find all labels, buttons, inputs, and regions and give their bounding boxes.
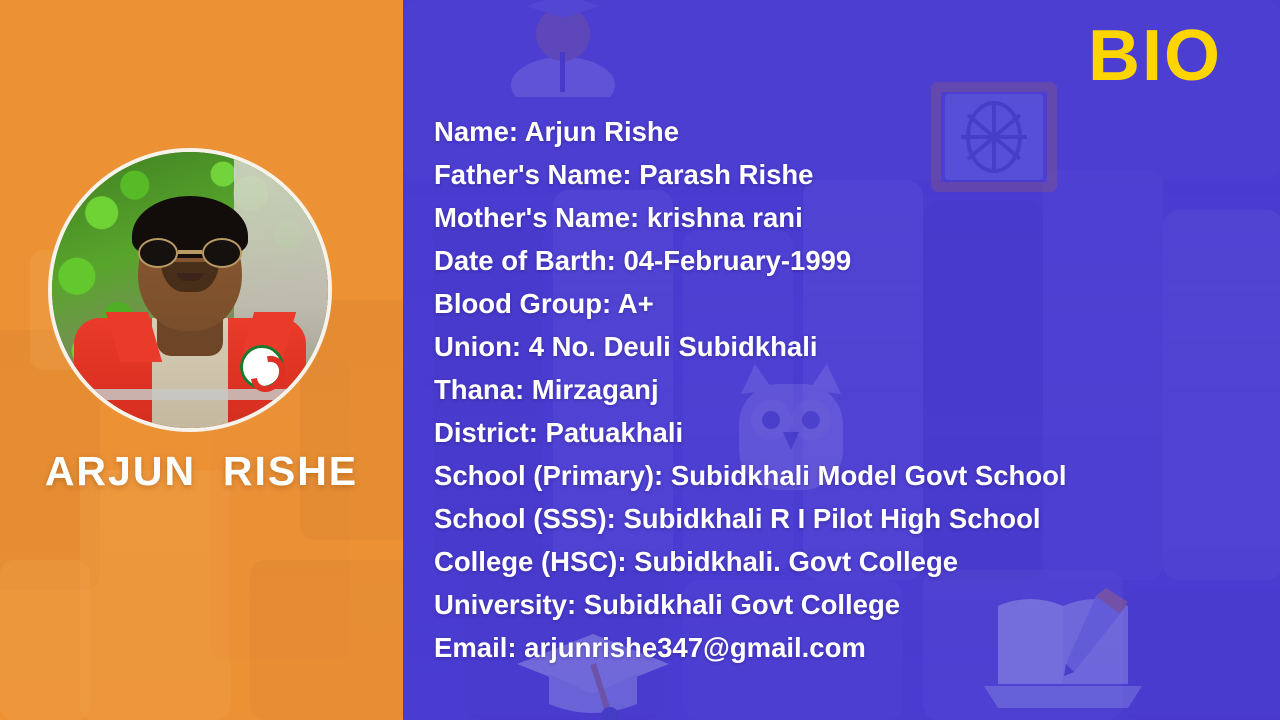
bio-field-university: University: Subidkhali Govt College: [434, 583, 1264, 626]
red-crescent-emblem-icon: [240, 345, 284, 389]
bio-card: ARJUN RISHE: [0, 0, 1280, 720]
bio-field-email: Email: arjunrishe347@gmail.com: [434, 626, 1264, 669]
bio-field-name: Name: Arjun Rishe: [434, 110, 1264, 153]
bio-heading: BIO: [1088, 20, 1222, 92]
graduate-person-icon: [508, 0, 618, 97]
left-orange-panel: ARJUN RISHE: [0, 0, 403, 720]
page-title: ARJUN RISHE: [0, 448, 403, 495]
sunglasses-icon: [138, 238, 242, 268]
right-blue-panel: BIO Name: Arjun Rishe Father's Name: Par…: [403, 0, 1280, 720]
bio-field-district: District: Patuakhali: [434, 411, 1264, 454]
bio-field-college-hsc: College (HSC): Subidkhali. Govt College: [434, 540, 1264, 583]
bio-field-school-sss: School (SSS): Subidkhali R I Pilot High …: [434, 497, 1264, 540]
bio-field-union: Union: 4 No. Deuli Subidkhali: [434, 325, 1264, 368]
bio-field-mothers-name: Mother's Name: krishna rani: [434, 196, 1264, 239]
bio-field-list: Name: Arjun Rishe Father's Name: Parash …: [434, 110, 1264, 669]
bio-field-date-of-birth: Date of Barth: 04-February-1999: [434, 239, 1264, 282]
bio-field-thana: Thana: Mirzaganj: [434, 368, 1264, 411]
bio-field-fathers-name: Father's Name: Parash Rishe: [434, 153, 1264, 196]
avatar: [48, 148, 332, 432]
bio-field-blood-group: Blood Group: A+: [434, 282, 1264, 325]
bio-field-school-primary: School (Primary): Subidkhali Model Govt …: [434, 454, 1264, 497]
